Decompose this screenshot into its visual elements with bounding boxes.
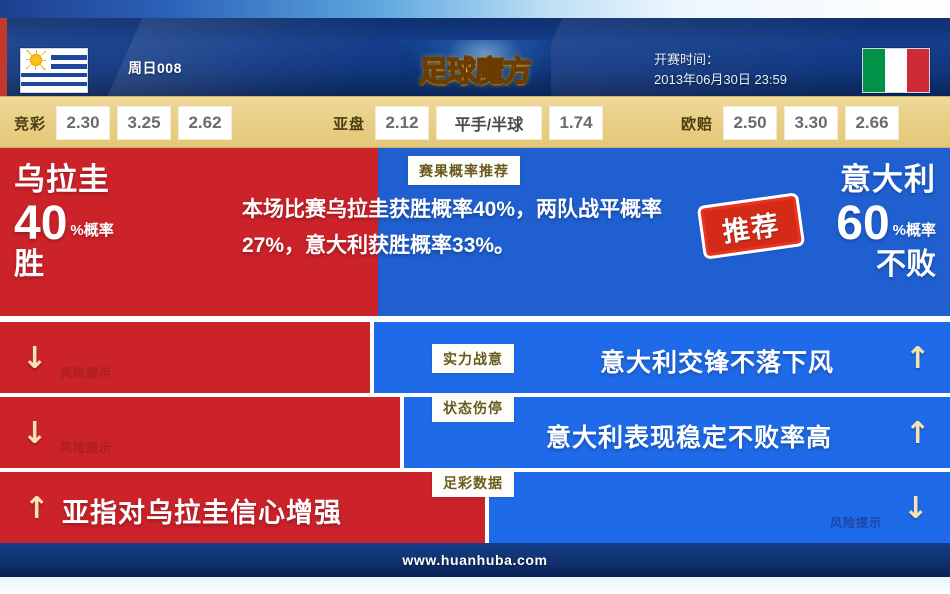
away-prob-row: 60 %概率 <box>706 200 936 248</box>
tip-row-red-segment <box>0 397 400 468</box>
up-arrow-icon: ↑ <box>24 494 49 524</box>
away-team-block: 意大利 60 %概率 不败 <box>706 162 936 282</box>
odds-cell[interactable]: 2.50 <box>723 106 777 140</box>
home-prob-row: 40 %概率 <box>14 200 214 248</box>
match-header: 周日008 足球魔方 开赛时间： 2013年06月30日 23:59 <box>0 18 950 96</box>
section-badge-strength: 实力战意 <box>432 344 514 373</box>
tip-row-betting-data: 足彩数据 ↑ 亚指对乌拉圭信心增强 风险提示 ↓ <box>0 472 950 543</box>
footer-bar: www.huanhuba.com <box>0 543 950 577</box>
tip-row-strength: 实力战意 ↓ 风险提示 意大利交锋不落下风 ↑ <box>0 322 950 393</box>
top-gradient-strip <box>0 0 950 18</box>
odds-cell[interactable]: 2.62 <box>178 106 232 140</box>
site-logo-text: 足球魔方 <box>419 48 531 90</box>
odds-group-jingcai: 竞彩 2.30 3.25 2.62 <box>14 97 232 149</box>
header-sheen-left <box>80 18 400 96</box>
risk-note-right: 风险提示 <box>830 514 882 531</box>
down-arrow-icon: ↓ <box>22 419 47 449</box>
match-number: 周日008 <box>128 58 182 78</box>
section-badge-result-probability: 赛果概率推荐 <box>408 156 520 185</box>
tip-text-strength: 意大利交锋不落下风 <box>600 343 834 379</box>
odds-label-oupei: 欧赔 <box>681 113 713 134</box>
tip-text-form-injury: 意大利表现稳定不败率高 <box>546 418 832 454</box>
down-arrow-icon: ↓ <box>903 494 928 524</box>
away-outcome: 不败 <box>706 248 936 282</box>
up-arrow-icon: ↑ <box>905 419 930 449</box>
odds-label-jingcai: 竞彩 <box>14 113 46 134</box>
home-prob-suffix: %概率 <box>70 219 113 248</box>
bottom-fade <box>0 577 950 594</box>
home-prob-value: 40 <box>14 200 67 248</box>
away-prob-suffix: %概率 <box>893 219 936 248</box>
odds-label-yapan: 亚盘 <box>333 113 365 134</box>
section-badge-form-injury: 状态伤停 <box>432 393 514 422</box>
odds-cell[interactable]: 2.66 <box>845 106 899 140</box>
odds-group-oupei: 欧赔 2.50 3.30 2.66 <box>681 97 899 149</box>
sun-of-may-icon <box>29 53 43 67</box>
away-prob-value: 60 <box>836 200 889 248</box>
probability-panel: 赛果概率推荐 乌拉圭 40 %概率 胜 本场比赛乌拉圭获胜概率40%，两队战平概… <box>0 148 950 316</box>
odds-cell[interactable]: 3.25 <box>117 106 171 140</box>
odds-cell[interactable]: 1.74 <box>549 106 603 140</box>
tip-row-form-injury: 状态伤停 ↓ 风险提示 意大利表现稳定不败率高 ↑ <box>0 397 950 468</box>
away-team-name: 意大利 <box>706 162 936 198</box>
odds-cell[interactable]: 3.30 <box>784 106 838 140</box>
risk-note-left: 风险提示 <box>60 364 112 381</box>
italy-flag-icon <box>862 48 930 93</box>
italy-tricolor <box>863 49 929 92</box>
home-team-name: 乌拉圭 <box>14 162 214 198</box>
odds-cell[interactable]: 2.30 <box>56 106 110 140</box>
infographic-page: 周日008 足球魔方 开赛时间： 2013年06月30日 23:59 竞彩 2.… <box>0 0 950 594</box>
odds-cell[interactable]: 2.12 <box>375 106 429 140</box>
down-arrow-icon: ↓ <box>22 344 47 374</box>
kickoff-label: 开赛时间： <box>654 50 787 70</box>
up-arrow-icon: ↑ <box>905 344 930 374</box>
site-logo: 足球魔方 <box>399 40 551 96</box>
probability-summary-text: 本场比赛乌拉圭获胜概率40%，两队战平概率27%，意大利获胜概率33%。 <box>242 192 682 264</box>
odds-cell-handicap[interactable]: 平手/半球 <box>436 106 542 140</box>
risk-note-left: 风险提示 <box>60 439 112 456</box>
site-url[interactable]: www.huanhuba.com <box>402 552 547 568</box>
uruguay-flag-icon <box>20 48 88 93</box>
home-team-block: 乌拉圭 40 %概率 胜 <box>14 162 214 282</box>
odds-group-yapan: 亚盘 2.12 平手/半球 1.74 <box>333 97 603 149</box>
kickoff-value: 2013年06月30日 23:59 <box>654 70 787 90</box>
home-outcome: 胜 <box>14 248 214 282</box>
section-badge-betting-data: 足彩数据 <box>432 468 514 497</box>
uruguay-canton <box>21 49 51 71</box>
tip-row-blue-segment <box>489 472 950 543</box>
header-accent-bar <box>0 18 7 96</box>
tip-text-betting-data: 亚指对乌拉圭信心增强 <box>62 491 342 530</box>
odds-bar: 竞彩 2.30 3.25 2.62 亚盘 2.12 平手/半球 1.74 欧赔 … <box>0 96 950 148</box>
tip-row-red-segment <box>0 322 370 393</box>
kickoff-time: 开赛时间： 2013年06月30日 23:59 <box>654 50 787 90</box>
